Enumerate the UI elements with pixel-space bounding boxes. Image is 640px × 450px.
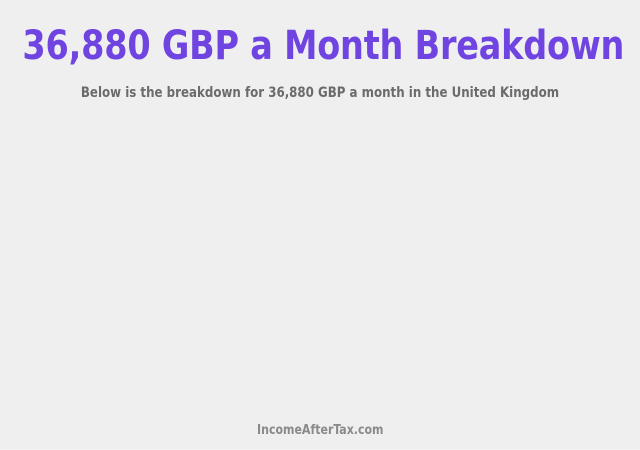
site-attribution: IncomeAfterTax.com (257, 423, 383, 439)
page-footer: IncomeAfterTax.com (0, 421, 640, 439)
page-root: 36,880 GBP a Month Breakdown Below is th… (0, 0, 640, 450)
breakdown-content-area (0, 112, 640, 410)
page-title: 36,880 GBP a Month Breakdown (22, 23, 617, 69)
page-subtitle: Below is the breakdown for 36,880 GBP a … (19, 84, 621, 102)
